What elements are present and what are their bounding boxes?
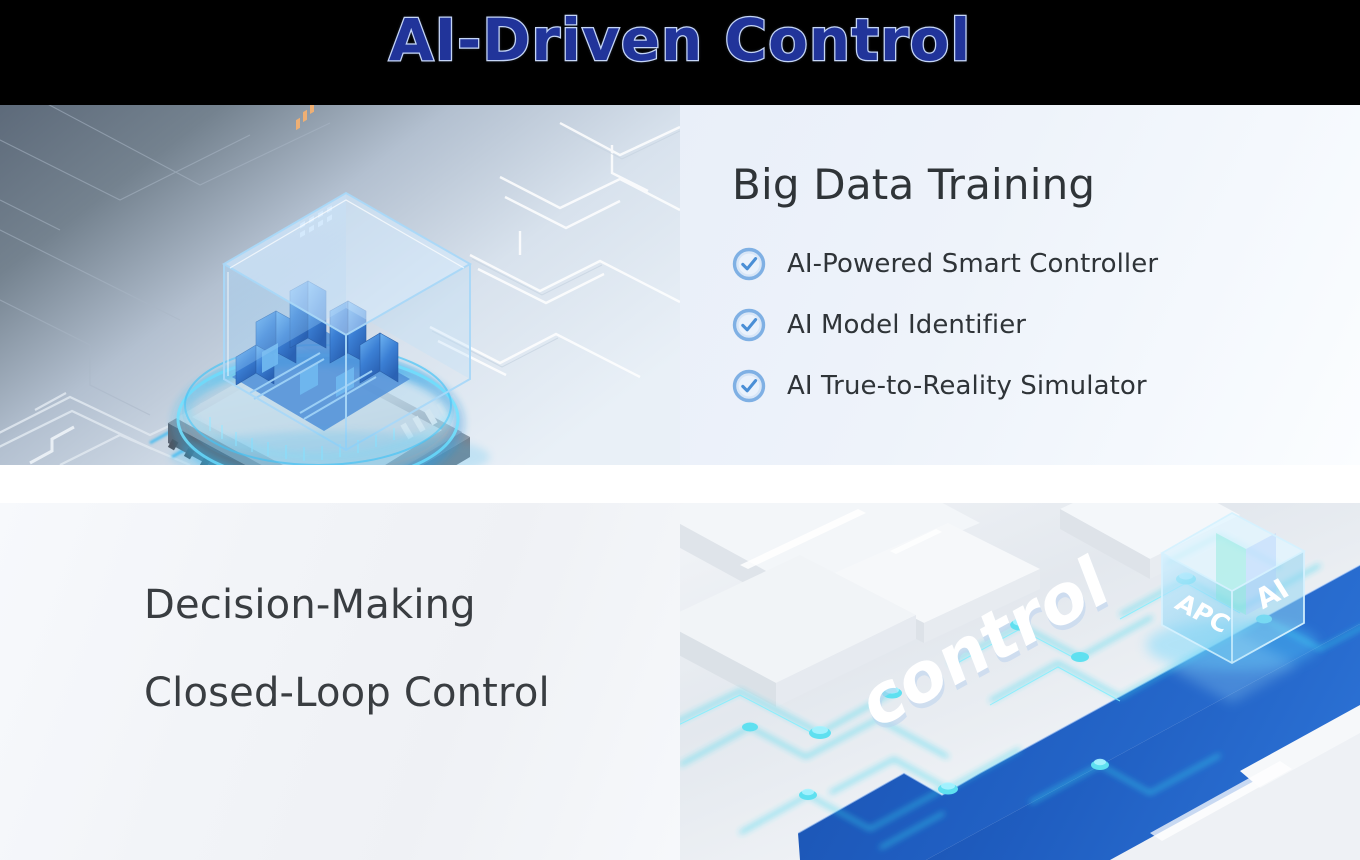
feature-item-ai-model-identifier[interactable]: AI Model Identifier: [732, 308, 1360, 342]
title-banner: AI-Driven Control: [0, 0, 1360, 105]
control-board-illustration: control control: [680, 503, 1360, 860]
feature-label: AI-Powered Smart Controller: [787, 249, 1158, 279]
big-data-heading: Big Data Training: [732, 160, 1360, 209]
check-circle-icon: [732, 247, 766, 281]
chip-scene-graphic: [0, 105, 680, 465]
feature-item-ai-true-to-reality-simulator[interactable]: AI True-to-Reality Simulator: [732, 369, 1360, 403]
feature-label: AI True-to-Reality Simulator: [787, 371, 1147, 401]
check-circle-icon: [732, 308, 766, 342]
feature-list: AI-Powered Smart Controller AI Model Ide…: [732, 247, 1360, 403]
check-circle-icon: [732, 369, 766, 403]
feature-item-ai-powered-smart-controller[interactable]: AI-Powered Smart Controller: [732, 247, 1360, 281]
decision-making-panel: Decision-Making Closed-Loop Control: [0, 503, 680, 860]
decision-line-1: Decision-Making: [144, 585, 680, 625]
decision-line-2: Closed-Loop Control: [144, 673, 680, 713]
big-data-training-panel: Big Data Training AI-Powered Smart Contr…: [680, 105, 1360, 465]
page-title: AI-Driven Control: [389, 6, 972, 74]
bottom-row: Decision-Making Closed-Loop Control: [0, 503, 1360, 860]
top-row: Big Data Training AI-Powered Smart Contr…: [0, 105, 1360, 465]
control-board-graphic: control control: [680, 503, 1360, 860]
feature-label: AI Model Identifier: [787, 310, 1026, 340]
slide-root: AI-Driven Control: [0, 0, 1360, 860]
chip-cube-illustration: [0, 105, 680, 465]
